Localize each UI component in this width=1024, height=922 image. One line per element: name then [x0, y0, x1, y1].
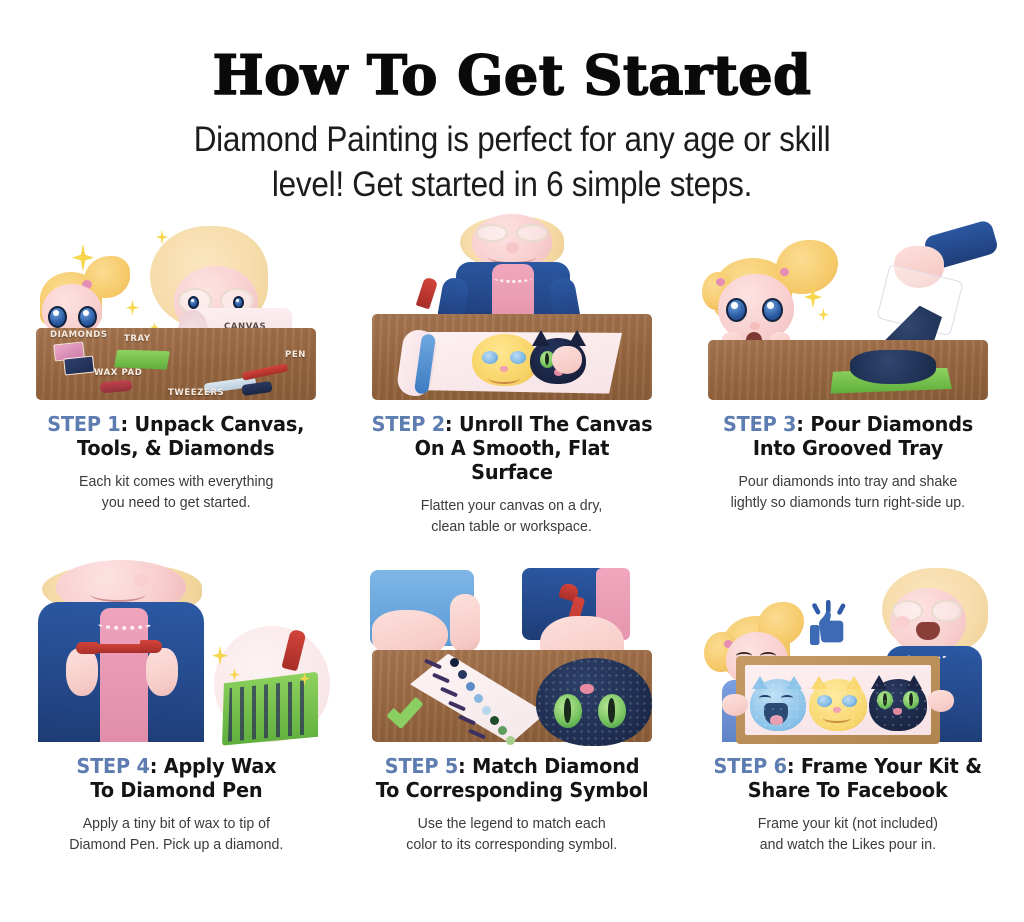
step-card-1: CANVAS DIAMONDS TRAY WAX PAD TWEEZERS: [8, 222, 344, 538]
legend-dot: [498, 726, 507, 735]
step-card-5: STEP 5: Match Diamond To Corresponding S…: [344, 564, 680, 856]
grooved-tray: [114, 350, 170, 370]
step-number-5: STEP 5: [385, 754, 458, 778]
step-separator: :: [796, 412, 810, 436]
yellow-cat-eye: [510, 351, 526, 364]
step-number-1: STEP 1: [47, 412, 120, 436]
grandma-nose: [134, 574, 150, 587]
step-body-line-2: Diamond Pen. Pick up a diamond.: [69, 835, 283, 856]
sparkle-icon: [126, 300, 139, 316]
step-title-4: STEP 4: Apply Wax To Diamond Pen: [76, 754, 276, 802]
legend-dot: [482, 706, 491, 715]
step-body-5: Use the legend to match each color to it…: [407, 814, 618, 855]
grandma-glasses: [476, 224, 548, 242]
step-card-3: STEP 3: Pour Diamonds Into Grooved Tray …: [680, 222, 1016, 538]
grandma-hand-left: [66, 648, 98, 696]
steps-row-2: STEP 4: Apply Wax To Diamond Pen Apply a…: [0, 564, 1024, 856]
step-card-6: STEP 6: Frame Your Kit & Share To Facebo…: [680, 564, 1016, 856]
picture-frame: [736, 656, 940, 744]
black-cat-ear: [532, 330, 550, 346]
step-body-1: Each kit comes with everything you need …: [79, 472, 273, 513]
girl-nose: [750, 322, 760, 330]
step-title-line-2: On A Smooth, Flat Surface: [371, 436, 653, 484]
grandma-hand-smoothing: [552, 346, 582, 374]
girl-hair-tie: [780, 268, 789, 276]
girl-hand-holding-frame: [722, 694, 748, 716]
step-title-2: STEP 2: Unroll The Canvas On A Smooth, F…: [371, 412, 653, 485]
diamond-pen: [416, 276, 439, 309]
grandma-hand-holding-frame: [928, 690, 954, 712]
step-title-line-1: Unpack Canvas,: [135, 412, 305, 436]
pearl-necklace: [494, 274, 532, 283]
pen-label: PEN: [285, 350, 306, 360]
step-body-line-1: Flatten your canvas on a dry,: [421, 496, 603, 517]
step-separator: :: [149, 754, 163, 778]
subtitle-line-2: level! Get started in 6 simple steps.: [51, 163, 973, 208]
tray-grooves: [228, 680, 312, 742]
page-title: How To Get Started: [0, 48, 1024, 102]
subtitle-line-1: Diamond Painting is perfect for any age …: [51, 118, 973, 163]
step-card-2: STEP 2: Unroll The Canvas On A Smooth, F…: [344, 222, 680, 538]
legend-dot: [458, 670, 467, 679]
step-body-line-2: color to its corresponding symbol.: [407, 835, 618, 856]
step-body-4: Apply a tiny bit of wax to tip of Diamon…: [69, 814, 283, 855]
child-arm: [450, 594, 480, 652]
steps-row-1: CANVAS DIAMONDS TRAY WAX PAD TWEEZERS: [0, 222, 1024, 538]
step-title-line-1: Unroll The Canvas: [459, 412, 652, 436]
unroll-canvas-illustration: [364, 222, 660, 400]
thumbs-up-icon: [806, 600, 854, 652]
step-body-line-1: Each kit comes with everything: [79, 472, 273, 493]
step-title-5: STEP 5: Match Diamond To Corresponding S…: [376, 754, 649, 802]
step-body-line-1: Pour diamonds into tray and shake: [731, 472, 965, 493]
step-title-line-1: Frame Your Kit &: [801, 754, 982, 778]
framed-kit-illustration: [700, 564, 996, 742]
legend-dot: [474, 694, 483, 703]
step-body-line-2: you need to get started.: [79, 493, 273, 514]
legend-dash: [440, 686, 458, 697]
girl-eye: [48, 306, 67, 328]
diamond-pen-tip: [140, 640, 162, 653]
legend-dash: [424, 658, 442, 669]
apply-wax-illustration: [28, 564, 324, 742]
step-body-line-2: and watch the Likes pour in.: [758, 835, 938, 856]
legend-dot: [466, 682, 475, 691]
diamond-texture: [536, 658, 652, 746]
pour-diamonds-illustration: [700, 222, 996, 400]
wax-pad-label: WAX PAD: [94, 368, 142, 378]
legend-dash: [448, 700, 466, 711]
step-number-6: STEP 6: [714, 754, 787, 778]
step-title-line-2: Tools, & Diamonds: [47, 436, 304, 460]
header: How To Get Started Diamond Painting is p…: [0, 0, 1024, 208]
step-body-2: Flatten your canvas on a dry, clean tabl…: [421, 496, 603, 537]
black-cat-ear: [568, 330, 586, 346]
legend-dot: [506, 736, 515, 745]
step-title-line-2: To Corresponding Symbol: [376, 778, 649, 802]
step-number-2: STEP 2: [372, 412, 445, 436]
legend-dot: [450, 658, 459, 667]
step-body-line-1: Use the legend to match each: [407, 814, 618, 835]
match-symbol-illustration: [364, 564, 660, 742]
step-title-line-1: Apply Wax: [163, 754, 276, 778]
step-body-line-2: lightly so diamonds turn right-side up.: [731, 493, 965, 514]
unpack-kit-illustration: CANVAS DIAMONDS TRAY WAX PAD TWEEZERS: [28, 222, 324, 400]
step-title-line-2: Into Grooved Tray: [723, 436, 973, 460]
step-title-line-1: Match Diamond: [472, 754, 639, 778]
girl-eye: [726, 298, 747, 322]
page-subtitle: Diamond Painting is perfect for any age …: [51, 118, 973, 208]
step-body-3: Pour diamonds into tray and shake lightl…: [731, 472, 965, 513]
tray-label: TRAY: [124, 334, 151, 344]
grandma-eye: [188, 296, 199, 309]
grandma-shirt: [492, 264, 534, 322]
yellow-cat-eye: [482, 351, 498, 364]
sparkle-icon: [818, 308, 829, 322]
step-body-line-2: clean table or workspace.: [421, 517, 603, 538]
cat-eye: [554, 694, 582, 728]
step-title-1: STEP 1: Unpack Canvas, Tools, & Diamonds: [47, 412, 304, 460]
pearl-necklace: [98, 618, 152, 630]
framed-artwork: [745, 665, 931, 735]
step-title-6: STEP 6: Frame Your Kit & Share To Facebo…: [714, 754, 982, 802]
cat-nose: [580, 684, 594, 694]
yellow-cat-nose: [500, 366, 508, 372]
yellow-cat-smile: [488, 372, 520, 384]
step-title-line-2: Share To Facebook: [714, 778, 982, 802]
grandma-nose: [895, 616, 910, 628]
legend-dot: [490, 716, 499, 725]
diamonds-label: DIAMONDS: [50, 330, 108, 340]
grandma-smile: [90, 586, 146, 602]
legend-dash: [458, 714, 476, 725]
step-number-4: STEP 4: [76, 754, 149, 778]
legend-dash: [432, 672, 450, 683]
step-title-line-1: Pour Diamonds: [810, 412, 973, 436]
step-title-line-2: To Diamond Pen: [76, 778, 276, 802]
diamond-bag: [63, 355, 95, 375]
step-separator: :: [458, 754, 472, 778]
diamond-texture: [745, 665, 931, 735]
cat-eye: [598, 694, 626, 728]
wax-pad: [100, 379, 133, 393]
diamond-pile-in-tray: [850, 350, 936, 384]
grandma-eye: [233, 296, 244, 309]
step-body-line-1: Frame your kit (not included): [758, 814, 938, 835]
step-number-3: STEP 3: [723, 412, 796, 436]
grandma-open-mouth: [916, 622, 940, 640]
tweezers-label: TWEEZERS: [168, 388, 224, 398]
step-body-6: Frame your kit (not included) and watch …: [758, 814, 938, 855]
step-separator: :: [787, 754, 801, 778]
girl-eye: [78, 306, 97, 328]
step-separator: :: [121, 412, 135, 436]
step-body-line-1: Apply a tiny bit of wax to tip of: [69, 814, 283, 835]
step-title-3: STEP 3: Pour Diamonds Into Grooved Tray: [723, 412, 973, 460]
step-separator: :: [445, 412, 459, 436]
grandma-hand-right: [146, 648, 178, 696]
legend-dash: [468, 728, 486, 739]
diamond-pen-body: [94, 644, 144, 653]
girl-eye: [762, 298, 783, 322]
step-card-4: STEP 4: Apply Wax To Diamond Pen Apply a…: [8, 564, 344, 856]
girl-hair-tie: [716, 278, 725, 286]
infographic-page: How To Get Started Diamond Painting is p…: [0, 0, 1024, 922]
